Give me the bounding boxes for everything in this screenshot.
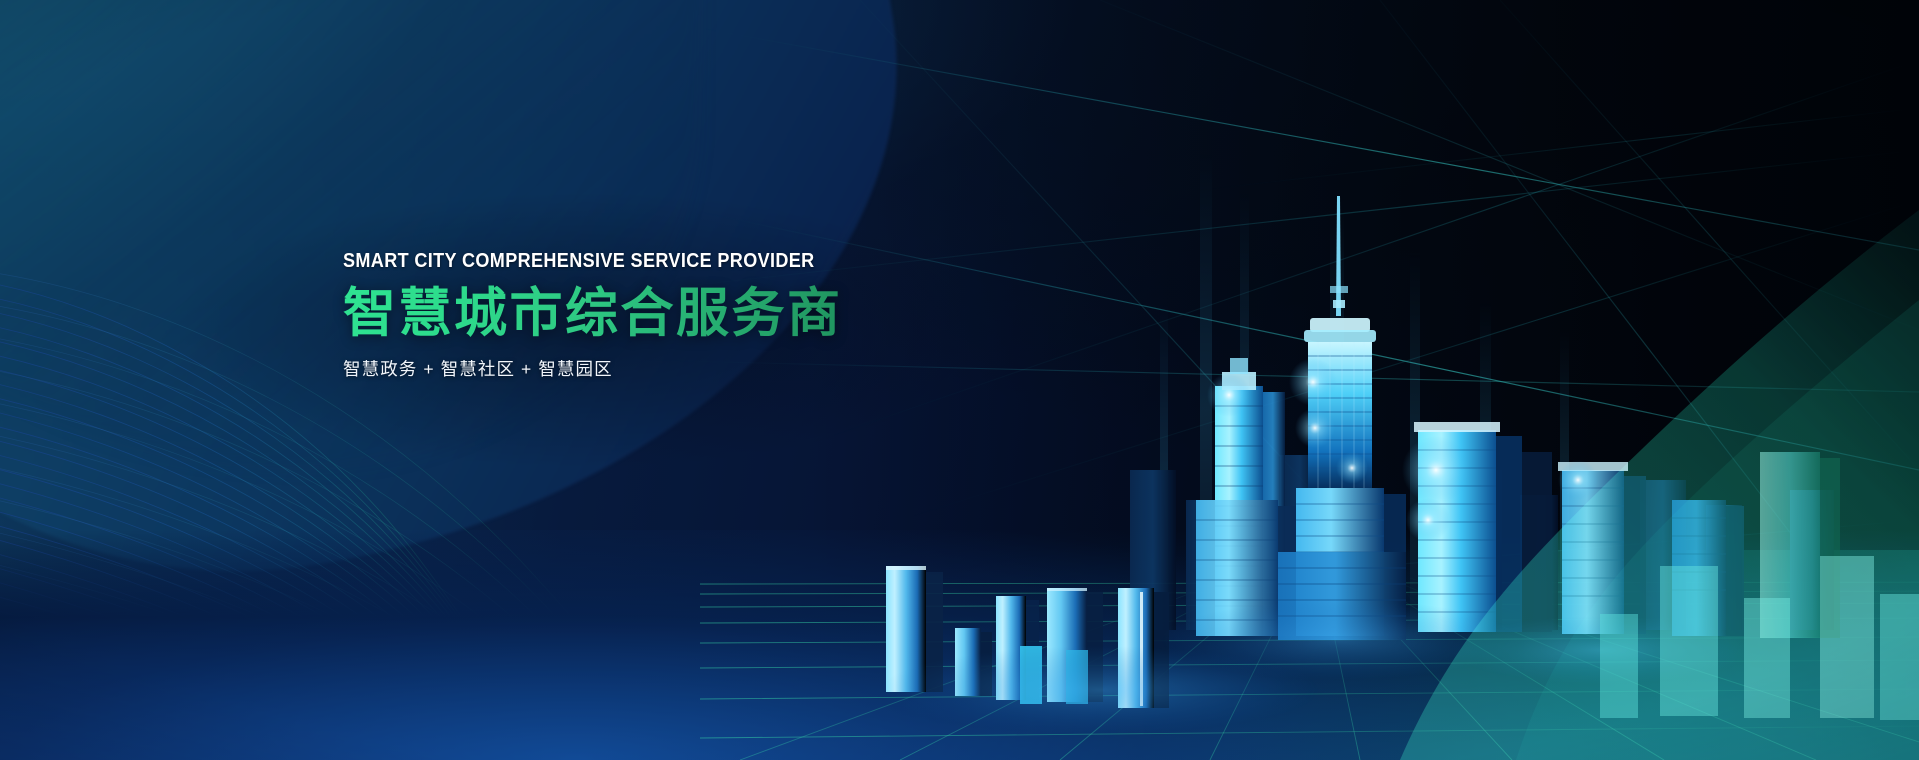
hero-banner: SMART CITY COMPREHENSIVE SERVICE PROVIDE… bbox=[0, 0, 1919, 760]
page-title: 智慧城市综合服务商 bbox=[343, 284, 983, 343]
eyebrow-english-tagline: SMART CITY COMPREHENSIVE SERVICE PROVIDE… bbox=[343, 250, 906, 273]
subtitle-services: 智慧政务 + 智慧社区 + 智慧园区 bbox=[343, 356, 983, 381]
hero-copy: SMART CITY COMPREHENSIVE SERVICE PROVIDE… bbox=[343, 250, 983, 381]
